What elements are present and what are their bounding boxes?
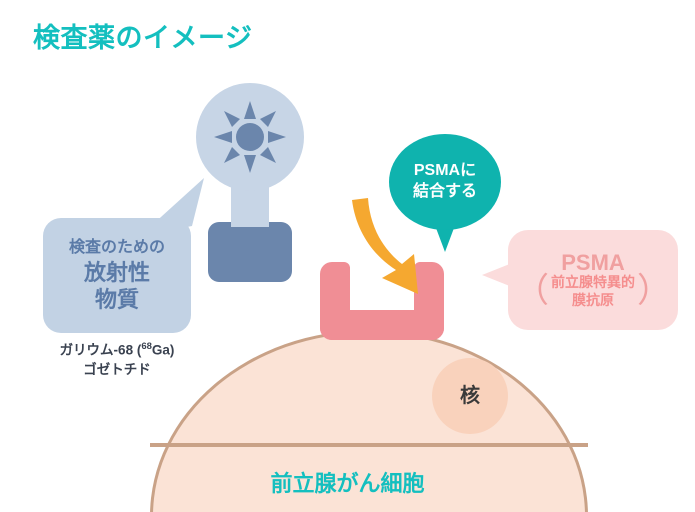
- page-title: 検査薬のイメージ: [33, 16, 252, 55]
- binding-bubble: PSMAに 結合する: [389, 134, 501, 230]
- receptor-base: [320, 310, 444, 340]
- tracer-caption: ガリウム-68 (68Ga) ゴゼトチド: [20, 340, 214, 380]
- psma-subtitle-line2: 膜抗原: [572, 292, 614, 308]
- tracer-callout: 検査のための 放射性 物質: [43, 218, 191, 333]
- nucleus-label: 核: [460, 386, 480, 406]
- tracer-base-block: [208, 222, 292, 282]
- psma-subtitle-lines: 前立腺特異的 膜抗原: [551, 274, 635, 308]
- psma-paren-close: ）: [635, 276, 673, 307]
- diagram-canvas: 検査薬のイメージ 核 前立腺がん細胞: [0, 0, 695, 512]
- psma-subtitle-wrap: （ 前立腺特異的 膜抗原 ）: [513, 274, 673, 308]
- tracer-callout-line1: 検査のための: [69, 238, 165, 258]
- cell-nucleus: 核: [432, 358, 508, 434]
- tracer-caption-line1-pre: ガリウム-68 (: [60, 343, 142, 358]
- psma-receptor: [320, 262, 444, 340]
- tracer-caption-line2: ゴゼトチド: [83, 362, 151, 377]
- cell-baseline: [150, 443, 588, 447]
- radiation-burst-icon: [214, 101, 286, 173]
- tracer-callout-line2: 放射性: [84, 260, 150, 287]
- psma-subtitle-line1: 前立腺特異的: [551, 274, 635, 290]
- tracer-caption-superscript: 68: [141, 341, 152, 352]
- psma-title: PSMA: [561, 251, 625, 274]
- cell-caption: 前立腺がん細胞: [0, 466, 695, 498]
- psma-paren-open: （: [513, 276, 551, 307]
- binding-bubble-line2: 結合する: [413, 182, 477, 203]
- tracer-callout-line3: 物質: [95, 287, 139, 314]
- psma-callout: PSMA （ 前立腺特異的 膜抗原 ）: [508, 230, 678, 330]
- tracer-caption-line1-post: Ga): [152, 343, 175, 358]
- binding-bubble-line1: PSMAに: [414, 161, 476, 182]
